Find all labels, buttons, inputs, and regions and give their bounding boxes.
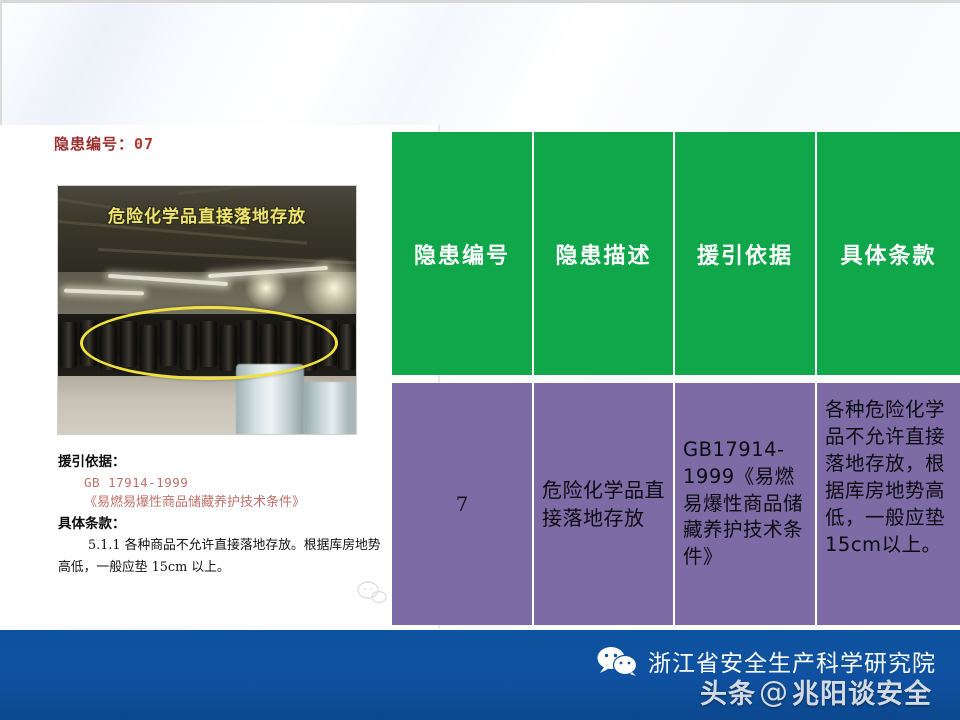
watermark-account: 兆阳谈安全 <box>792 672 932 711</box>
hazard-number-text: 7 <box>456 492 469 516</box>
clause-text-line-2: 高低，一般应垫 15cm 以上。 <box>58 560 230 575</box>
hazard-table: 隐患编号 隐患描述 援引依据 具体条款 7 危险化学品直接落地存放 GB1791… <box>392 132 960 625</box>
basis-heading: 援引依据： <box>58 452 388 473</box>
photo-drum <box>60 322 77 368</box>
table-row: 7 危险化学品直接落地存放 GB17914-1999《易燃易爆性商品储藏养护技术… <box>392 383 960 625</box>
table-header-cell-hazard-description: 隐患描述 <box>534 132 675 375</box>
wechat-icon <box>596 646 638 676</box>
watermark-at-symbol: @ <box>759 675 789 709</box>
clause-heading: 具体条款： <box>58 514 388 535</box>
table-header-row: 隐患编号 隐患描述 援引依据 具体条款 <box>392 132 960 375</box>
table-cell-hazard-description: 危险化学品直接落地存放 <box>534 383 675 625</box>
reference-block: 援引依据： GB 17914-1999 《易燃易爆性商品储藏养护技术条件》 具体… <box>58 452 388 579</box>
watermark-platform: 头条 <box>700 672 756 711</box>
table-cell-basis: GB17914-1999《易燃易爆性商品储藏养护技术条件》 <box>675 383 817 625</box>
top-border-line <box>0 0 960 3</box>
table-header-cell-clause: 具体条款 <box>817 132 960 375</box>
hazard-number-label-text: 隐患编号： <box>54 135 134 153</box>
panel-watermark-icon <box>356 578 390 608</box>
table-header-cell-hazard-number: 隐患编号 <box>392 132 534 375</box>
table-header-cell-basis: 援引依据 <box>675 132 817 375</box>
hazard-photo: 危险化学品直接落地存放 <box>58 186 356 434</box>
slide-canvas: 隐患编号：07 <box>0 0 960 720</box>
standard-code: GB 17914-1999 <box>58 473 388 493</box>
hazard-description-text: 危险化学品直接落地存放 <box>542 476 665 533</box>
left-border-line <box>0 0 2 130</box>
photo-foreground-drum <box>304 382 356 434</box>
table-cell-clause: 各种危险化学品不允许直接落地存放，根据库房地势高低，一般应垫15cm以上。 <box>817 383 960 625</box>
standard-title: 《易燃易爆性商品储藏养护技术条件》 <box>58 493 388 514</box>
basis-text: GB17914-1999《易燃易爆性商品储藏养护技术条件》 <box>683 437 807 572</box>
clause-paragraph: 5.1.1 各种商品不允许直接落地存放。根据库房地势 高低，一般应垫 15cm … <box>58 535 388 579</box>
yellow-ellipse-highlight-icon <box>80 306 338 380</box>
photo-light-glow <box>244 268 288 308</box>
clause-text-line-1: 各种商品不允许直接落地存放。根据库房地势 <box>125 538 381 553</box>
photo-caption: 危险化学品直接落地存放 <box>58 202 356 227</box>
hazard-number-value: 07 <box>134 135 154 153</box>
photo-drum <box>338 324 355 370</box>
hazard-number-label: 隐患编号：07 <box>54 133 154 154</box>
table-cell-hazard-number: 7 <box>392 383 534 625</box>
clause-text: 各种危险化学品不允许直接落地存放，根据库房地势高低，一般应垫15cm以上。 <box>825 397 952 558</box>
clause-number: 5.1.1 <box>58 538 121 553</box>
watermark: 头条 @ 兆阳谈安全 <box>700 672 932 711</box>
